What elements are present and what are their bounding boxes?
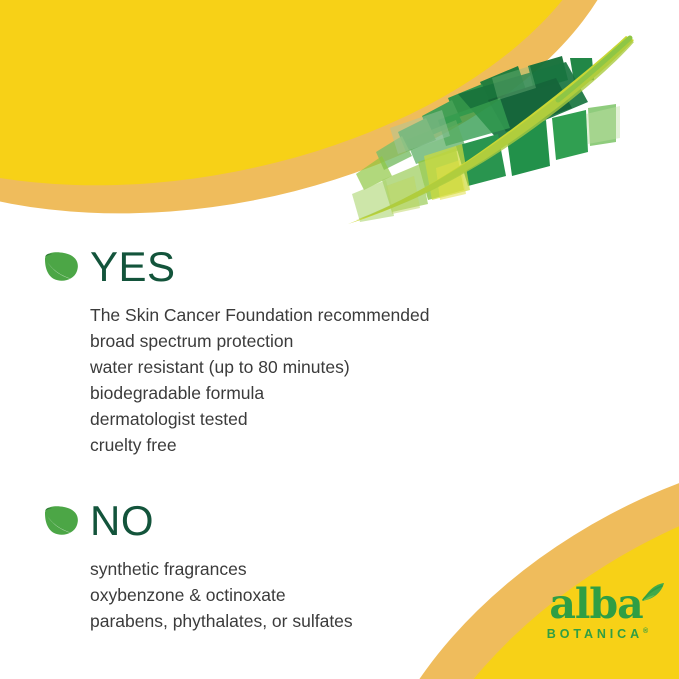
product-info-panel: YES The Skin Cancer Foundation recommend… xyxy=(0,0,679,679)
brand-subtitle: BOTANICA® xyxy=(536,627,656,641)
list-item: biodegradable formula xyxy=(90,380,430,406)
section-yes-list: The Skin Cancer Foundation recommended b… xyxy=(90,302,430,458)
list-item: broad spectrum protection xyxy=(90,328,430,354)
section-no-title: NO xyxy=(90,500,154,542)
list-item: synthetic fragrances xyxy=(90,556,353,582)
brand-leaf-icon xyxy=(642,582,666,602)
watercolor-palm-leaf xyxy=(330,28,650,240)
list-item: water resistant (up to 80 minutes) xyxy=(90,354,430,380)
list-item: parabens, phythalates, or sulfates xyxy=(90,608,353,634)
list-item: dermatologist tested xyxy=(90,406,430,432)
section-yes-header: YES xyxy=(42,243,430,291)
section-yes: YES The Skin Cancer Foundation recommend… xyxy=(42,243,430,458)
brand-wordmark: alba xyxy=(536,584,656,624)
list-item: The Skin Cancer Foundation recommended xyxy=(90,302,430,328)
section-yes-title: YES xyxy=(90,246,176,288)
registered-mark: ® xyxy=(643,628,648,635)
brand-logo: alba BOTANICA® xyxy=(536,584,656,642)
leaf-icon xyxy=(42,504,82,538)
list-item: cruelty free xyxy=(90,432,430,458)
section-no: NO synthetic fragrances oxybenzone & oct… xyxy=(42,497,353,634)
list-item: oxybenzone & octinoxate xyxy=(90,582,353,608)
brand-subtitle-text: BOTANICA xyxy=(547,627,643,641)
leaf-icon xyxy=(42,250,82,284)
section-no-list: synthetic fragrances oxybenzone & octino… xyxy=(90,556,353,634)
section-no-header: NO xyxy=(42,497,353,545)
